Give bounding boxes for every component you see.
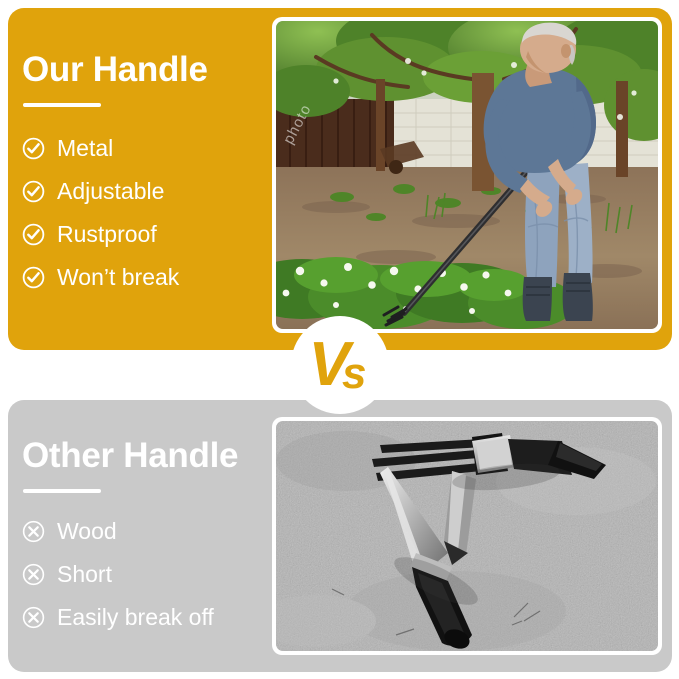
x-circle-icon bbox=[22, 563, 45, 586]
vs-badge: Vs bbox=[291, 316, 389, 414]
list-item-label: Wood bbox=[57, 519, 117, 543]
list-item: Won’t break bbox=[22, 265, 179, 289]
our-handle-title: Our Handle bbox=[22, 52, 208, 87]
list-item-label: Metal bbox=[57, 136, 113, 160]
list-item-label: Short bbox=[57, 562, 112, 586]
check-circle-icon bbox=[22, 266, 45, 289]
list-item-label: Rustproof bbox=[57, 222, 157, 246]
vs-badge-secondary: s bbox=[342, 352, 366, 396]
our-handle-photo: photo bbox=[276, 21, 658, 329]
x-circle-icon bbox=[22, 520, 45, 543]
list-item: Adjustable bbox=[22, 179, 179, 203]
gardener-photo-illustration bbox=[276, 21, 658, 329]
list-item-label: Adjustable bbox=[57, 179, 164, 203]
other-handle-title: Other Handle bbox=[22, 438, 238, 473]
list-item: Rustproof bbox=[22, 222, 179, 246]
comparison-infographic: Our Handle Metal Adjustable Rustproof bbox=[0, 0, 679, 679]
short-tools-photo-illustration bbox=[276, 421, 658, 651]
other-handle-feature-list: Wood Short Easily break off bbox=[22, 519, 214, 648]
other-handle-photo-frame bbox=[272, 417, 662, 655]
list-item: Short bbox=[22, 562, 214, 586]
our-handle-feature-list: Metal Adjustable Rustproof Won’t break bbox=[22, 136, 179, 308]
list-item: Easily break off bbox=[22, 605, 214, 629]
our-handle-title-underline bbox=[23, 103, 101, 107]
other-handle-title-underline bbox=[23, 489, 101, 493]
check-circle-icon bbox=[22, 137, 45, 160]
x-circle-icon bbox=[22, 606, 45, 629]
other-handle-photo bbox=[276, 421, 658, 651]
list-item-label: Easily break off bbox=[57, 605, 214, 629]
our-handle-photo-frame: photo bbox=[272, 17, 662, 333]
list-item-label: Won’t break bbox=[57, 265, 179, 289]
list-item: Wood bbox=[22, 519, 214, 543]
check-circle-icon bbox=[22, 223, 45, 246]
list-item: Metal bbox=[22, 136, 179, 160]
check-circle-icon bbox=[22, 180, 45, 203]
